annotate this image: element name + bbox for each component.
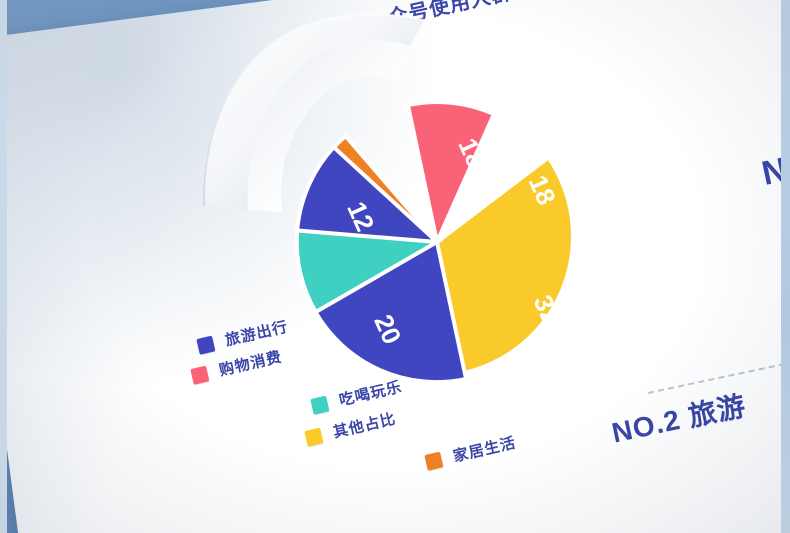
- legend-item-home[interactable]: 家居生活: [424, 432, 518, 473]
- legend-swatch-icon: [196, 335, 215, 354]
- legend-label: 家居生活: [451, 432, 518, 467]
- legend-swatch-icon: [310, 395, 329, 414]
- legend-swatch-icon: [304, 427, 323, 446]
- chart-legend: 旅游出行 购物消费 吃喝玩乐 其他占比 家居生活: [190, 330, 570, 510]
- left-edge-strip: [0, 0, 7, 533]
- right-edge-strip: [781, 0, 790, 533]
- legend-swatch-icon: [424, 451, 443, 470]
- legend-label: 其他占比: [331, 408, 398, 443]
- legend-label: 购物消费: [217, 346, 284, 381]
- poster-stage: 众号使用人群年龄占比 18 18 32 20: [0, 0, 790, 533]
- legend-label: 吃喝玩乐: [337, 376, 404, 411]
- legend-swatch-icon: [190, 365, 209, 384]
